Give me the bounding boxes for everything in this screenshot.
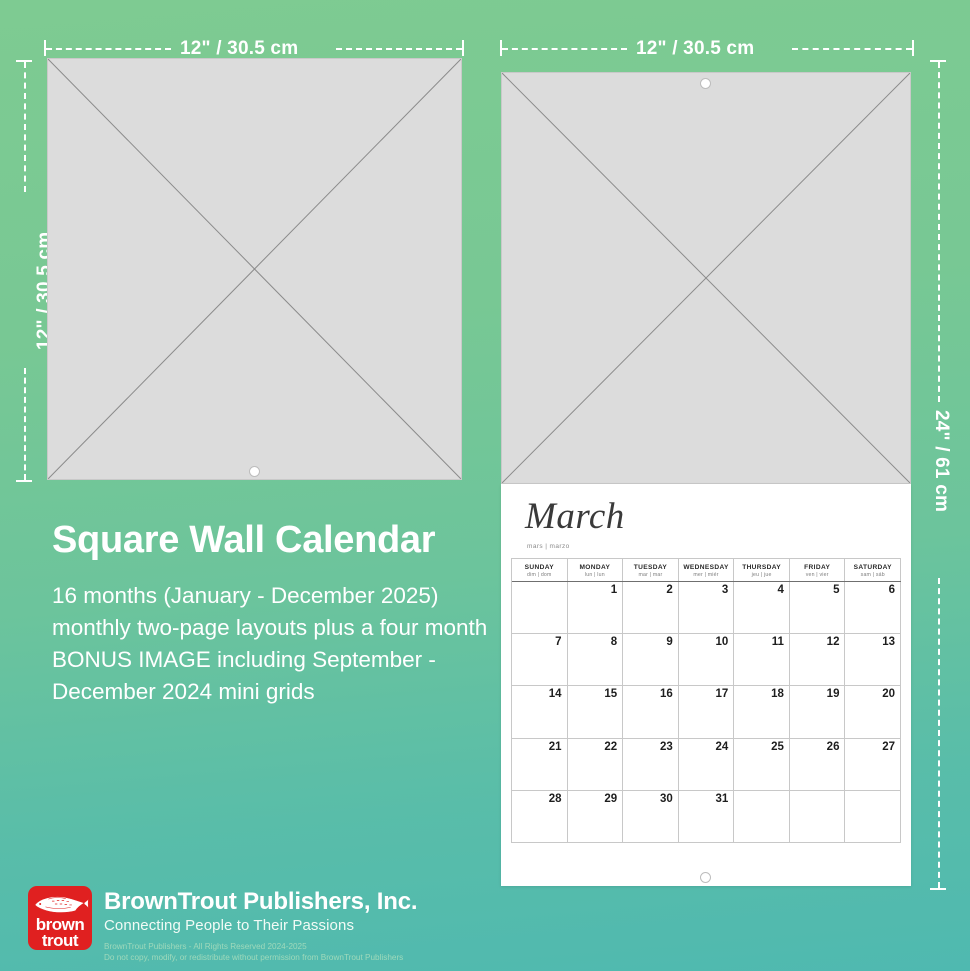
day-header-friday: FRIDAY ven | vier bbox=[790, 559, 846, 581]
placeholder-x-mark bbox=[48, 59, 461, 479]
day-number: 17 bbox=[716, 688, 729, 700]
calendar-day-cell[interactable]: 10 bbox=[679, 634, 735, 685]
left-height-dim-line-a bbox=[24, 62, 26, 192]
calendar-day-cell[interactable]: 24 bbox=[679, 739, 735, 790]
right-width-dim-line-b bbox=[792, 48, 912, 50]
left-width-dim-cap-end bbox=[462, 40, 464, 56]
browntrout-logo: brown trout bbox=[28, 886, 92, 950]
calendar-week-row: 1 2 3 4 5 6 bbox=[512, 582, 901, 634]
day-number: 12 bbox=[827, 636, 840, 648]
calendar-day-cell[interactable]: 22 bbox=[568, 739, 624, 790]
day-header-name: SATURDAY bbox=[854, 564, 892, 572]
day-number: 5 bbox=[833, 584, 839, 596]
calendar-day-cell[interactable]: 5 bbox=[790, 582, 846, 633]
day-number: 7 bbox=[555, 636, 561, 648]
calendar-day-cell[interactable]: 3 bbox=[679, 582, 735, 633]
day-number: 31 bbox=[716, 793, 729, 805]
left-height-dim-cap-bottom bbox=[16, 480, 32, 482]
calendar-grid: SUNDAY dim | dom MONDAY lun | lun TUESDA… bbox=[511, 558, 901, 843]
left-height-dim-line-b bbox=[24, 368, 26, 480]
calendar-day-cell[interactable]: 11 bbox=[734, 634, 790, 685]
right-panel-width-label: 12" / 30.5 cm bbox=[636, 38, 754, 60]
day-header-sub: ven | vier bbox=[806, 572, 829, 579]
calendar-bottom-hole-punch-icon bbox=[700, 872, 711, 883]
day-number: 26 bbox=[827, 741, 840, 753]
calendar-day-cell[interactable]: 26 bbox=[790, 739, 846, 790]
calendar-day-cell[interactable]: 18 bbox=[734, 686, 790, 737]
day-number: 1 bbox=[611, 584, 617, 596]
day-number: 3 bbox=[722, 584, 728, 596]
day-number: 2 bbox=[666, 584, 672, 596]
right-height-dim-line-b bbox=[938, 578, 940, 888]
day-header-name: TUESDAY bbox=[634, 564, 667, 572]
copyright-line-2: Do not copy, modify, or redistribute wit… bbox=[104, 952, 417, 963]
day-number: 21 bbox=[549, 741, 562, 753]
day-header-sub: mer | miér bbox=[693, 572, 718, 579]
day-number: 28 bbox=[549, 793, 562, 805]
calendar-day-cell[interactable]: 25 bbox=[734, 739, 790, 790]
calendar-day-cell[interactable]: 14 bbox=[512, 686, 568, 737]
calendar-day-cell[interactable]: 27 bbox=[845, 739, 901, 790]
calendar-day-cell[interactable]: 31 bbox=[679, 791, 735, 842]
day-header-sub: dim | dom bbox=[527, 572, 551, 579]
calendar-week-row: 7 8 9 10 11 12 13 bbox=[512, 634, 901, 686]
calendar-day-cell[interactable]: 20 bbox=[845, 686, 901, 737]
right-height-dim-cap-bottom bbox=[930, 888, 946, 890]
logo-word-trout: trout bbox=[28, 932, 92, 949]
cover-hole-punch-icon bbox=[249, 466, 260, 477]
day-number: 30 bbox=[660, 793, 673, 805]
calendar-day-cell[interactable]: 7 bbox=[512, 634, 568, 685]
calendar-day-cell[interactable] bbox=[734, 791, 790, 842]
day-number: 9 bbox=[666, 636, 672, 648]
day-header-wednesday: WEDNESDAY mer | miér bbox=[679, 559, 735, 581]
calendar-day-header-row: SUNDAY dim | dom MONDAY lun | lun TUESDA… bbox=[512, 559, 901, 582]
day-header-sunday: SUNDAY dim | dom bbox=[512, 559, 568, 581]
day-number: 15 bbox=[604, 688, 617, 700]
left-panel-width-label: 12" / 30.5 cm bbox=[180, 38, 298, 60]
month-title: March bbox=[525, 498, 625, 535]
publisher-text-block: BrownTrout Publishers, Inc. Connecting P… bbox=[104, 886, 417, 963]
publisher-name: BrownTrout Publishers, Inc. bbox=[104, 889, 417, 915]
day-number: 16 bbox=[660, 688, 673, 700]
calendar-day-cell[interactable] bbox=[790, 791, 846, 842]
day-header-saturday: SATURDAY sam | sáb bbox=[845, 559, 901, 581]
calendar-day-cell[interactable] bbox=[845, 791, 901, 842]
calendar-day-cell[interactable]: 2 bbox=[623, 582, 679, 633]
calendar-day-cell[interactable] bbox=[512, 582, 568, 633]
headline-block: Square Wall Calendar 16 months (January … bbox=[52, 520, 492, 708]
calendar-day-cell[interactable]: 21 bbox=[512, 739, 568, 790]
publisher-branding: brown trout BrownTrout Publishers, Inc. … bbox=[28, 886, 417, 963]
day-header-name: FRIDAY bbox=[804, 564, 830, 572]
day-header-tuesday: TUESDAY mar | mar bbox=[623, 559, 679, 581]
right-height-dim-line-a bbox=[938, 62, 940, 402]
day-number: 27 bbox=[882, 741, 895, 753]
calendar-day-cell[interactable]: 17 bbox=[679, 686, 735, 737]
publisher-tagline: Connecting People to Their Passions bbox=[104, 916, 417, 936]
right-panel-height-label-wrap: 24" / 61 cm bbox=[930, 410, 952, 512]
calendar-day-cell[interactable]: 1 bbox=[568, 582, 624, 633]
day-number: 19 bbox=[827, 688, 840, 700]
calendar-top-hole-punch-icon bbox=[700, 78, 711, 89]
page-title: Square Wall Calendar bbox=[52, 520, 492, 562]
day-number: 22 bbox=[604, 741, 617, 753]
calendar-week-row: 21 22 23 24 25 26 27 bbox=[512, 739, 901, 791]
product-description: 16 months (January - December 2025) mont… bbox=[52, 580, 492, 708]
calendar-day-cell[interactable]: 8 bbox=[568, 634, 624, 685]
day-header-name: SUNDAY bbox=[525, 564, 554, 572]
calendar-day-cell[interactable]: 4 bbox=[734, 582, 790, 633]
day-number: 25 bbox=[771, 741, 784, 753]
day-header-sub: jeu | jue bbox=[752, 572, 772, 579]
day-header-name: WEDNESDAY bbox=[683, 564, 728, 572]
trout-fish-icon bbox=[31, 892, 89, 916]
calendar-day-cell[interactable]: 9 bbox=[623, 634, 679, 685]
calendar-top-image-placeholder bbox=[501, 72, 911, 484]
left-width-dim-line-b bbox=[336, 48, 462, 50]
day-number: 20 bbox=[882, 688, 895, 700]
calendar-day-cell[interactable]: 23 bbox=[623, 739, 679, 790]
calendar-day-cell[interactable]: 28 bbox=[512, 791, 568, 842]
day-number: 23 bbox=[660, 741, 673, 753]
left-width-dim-line-a bbox=[46, 48, 171, 50]
calendar-day-cell[interactable]: 29 bbox=[568, 791, 624, 842]
day-number: 8 bbox=[611, 636, 617, 648]
day-header-name: THURSDAY bbox=[742, 564, 781, 572]
day-number: 18 bbox=[771, 688, 784, 700]
calendar-day-cell[interactable]: 15 bbox=[568, 686, 624, 737]
right-width-dim-line-a bbox=[502, 48, 627, 50]
calendar-day-cell[interactable]: 19 bbox=[790, 686, 846, 737]
day-number: 6 bbox=[889, 584, 895, 596]
calendar-day-cell[interactable]: 13 bbox=[845, 634, 901, 685]
day-header-sub: sam | sáb bbox=[861, 572, 885, 579]
day-header-thursday: THURSDAY jeu | jue bbox=[734, 559, 790, 581]
calendar-day-cell[interactable]: 30 bbox=[623, 791, 679, 842]
placeholder-x-mark bbox=[502, 73, 910, 483]
day-header-name: MONDAY bbox=[579, 564, 610, 572]
calendar-product-mockup: 12" / 30.5 cm 12" / 30.5 cm 12" / 30.5 c… bbox=[0, 0, 970, 971]
calendar-day-cell[interactable]: 12 bbox=[790, 634, 846, 685]
day-number: 24 bbox=[716, 741, 729, 753]
day-header-sub: lun | lun bbox=[585, 572, 605, 579]
day-number: 10 bbox=[716, 636, 729, 648]
day-number: 13 bbox=[882, 636, 895, 648]
calendar-month-page: March mars | marzo SUNDAY dim | dom MOND… bbox=[501, 484, 911, 886]
right-width-dim-cap-end bbox=[912, 40, 914, 56]
calendar-week-row: 28 29 30 31 bbox=[512, 791, 901, 843]
calendar-day-cell[interactable]: 6 bbox=[845, 582, 901, 633]
month-subtitle-translations: mars | marzo bbox=[527, 543, 570, 550]
day-header-sub: mar | mar bbox=[638, 572, 662, 579]
right-panel-height-label: 24" / 61 cm bbox=[930, 410, 952, 512]
copyright-line-1: BrownTrout Publishers - All Rights Reser… bbox=[104, 941, 417, 952]
day-number: 11 bbox=[772, 636, 784, 648]
day-header-monday: MONDAY lun | lun bbox=[568, 559, 624, 581]
day-number: 4 bbox=[777, 584, 783, 596]
cover-image-placeholder bbox=[47, 58, 462, 480]
day-number: 14 bbox=[549, 688, 562, 700]
calendar-day-cell[interactable]: 16 bbox=[623, 686, 679, 737]
day-number: 29 bbox=[604, 793, 617, 805]
calendar-week-row: 14 15 16 17 18 19 20 bbox=[512, 686, 901, 738]
